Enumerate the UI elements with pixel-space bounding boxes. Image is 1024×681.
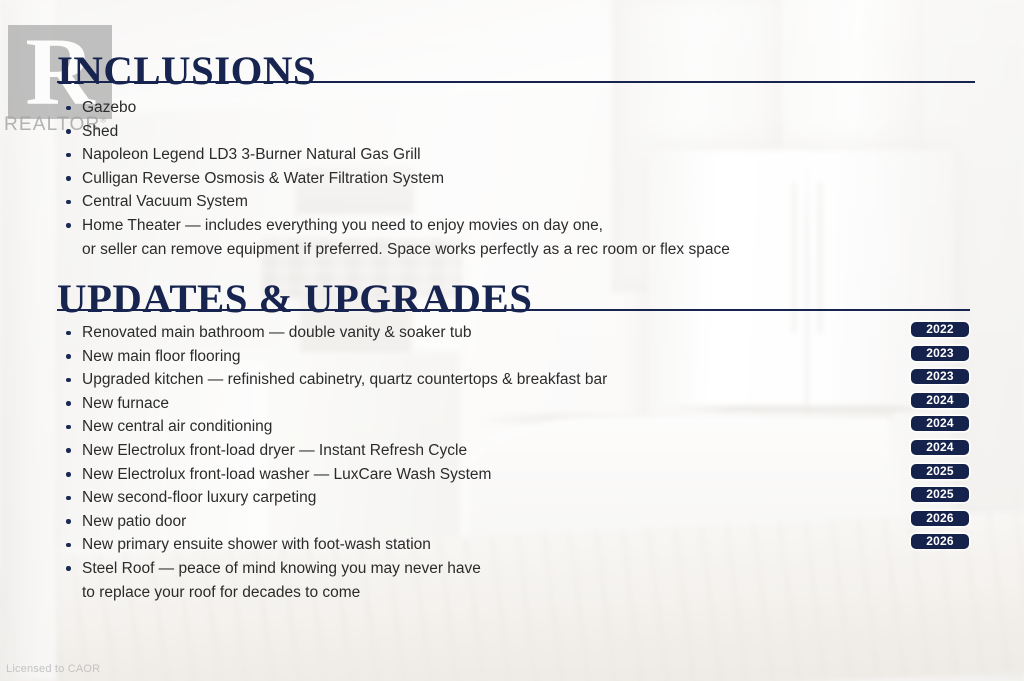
status-badge: 2024 <box>911 416 969 431</box>
slide-content: INCLUSIONS Gazebo Shed Napoleon Legend L… <box>0 0 1024 681</box>
inclusions-heading-rule <box>57 81 975 83</box>
list-item: New second-floor luxury carpeting <box>60 486 920 510</box>
list-item: New furnace <box>60 392 920 416</box>
list-item: New primary ensuite shower with foot-was… <box>60 533 920 557</box>
list-item: New main floor flooring <box>60 345 920 369</box>
year-badge-column: 2022 2023 2023 2024 2024 2024 2025 2025 … <box>911 322 969 558</box>
list-item: New Electrolux front-load dryer — Instan… <box>60 439 920 463</box>
list-item: New Electrolux front-load washer — LuxCa… <box>60 463 920 487</box>
status-badge: 2025 <box>911 464 969 479</box>
status-badge: 2026 <box>911 511 969 526</box>
list-item: Home Theater — includes everything you n… <box>60 214 920 261</box>
inclusions-heading: INCLUSIONS <box>57 51 316 91</box>
list-item: Napoleon Legend LD3 3-Burner Natural Gas… <box>60 143 920 167</box>
status-badge: 2023 <box>911 369 969 384</box>
updates-heading: UPDATES & UPGRADES <box>57 279 532 319</box>
inclusions-list: Gazebo Shed Napoleon Legend LD3 3-Burner… <box>60 96 920 261</box>
list-item: Gazebo <box>60 96 920 120</box>
list-item: Renovated main bathroom — double vanity … <box>60 321 920 345</box>
list-item: Central Vacuum System <box>60 190 920 214</box>
status-badge: 2024 <box>911 440 969 455</box>
list-item: Upgraded kitchen — refinished cabinetry,… <box>60 368 920 392</box>
list-item: New patio door <box>60 510 920 534</box>
status-badge: 2026 <box>911 534 969 549</box>
listing-feature-slide: R REALTOR® INCLUSIONS Gazebo Shed Napole… <box>0 0 1024 681</box>
license-footer: Licensed to CAOR <box>6 663 100 675</box>
updates-heading-rule <box>57 309 970 311</box>
status-badge: 2022 <box>911 322 969 337</box>
list-item: New central air conditioning <box>60 415 920 439</box>
updates-list: Renovated main bathroom — double vanity … <box>60 321 920 604</box>
status-badge: 2023 <box>911 346 969 361</box>
list-item: Culligan Reverse Osmosis & Water Filtrat… <box>60 167 920 191</box>
list-item: Steel Roof — peace of mind knowing you m… <box>60 557 920 604</box>
status-badge: 2024 <box>911 393 969 408</box>
status-badge: 2025 <box>911 487 969 502</box>
list-item: Shed <box>60 120 920 144</box>
